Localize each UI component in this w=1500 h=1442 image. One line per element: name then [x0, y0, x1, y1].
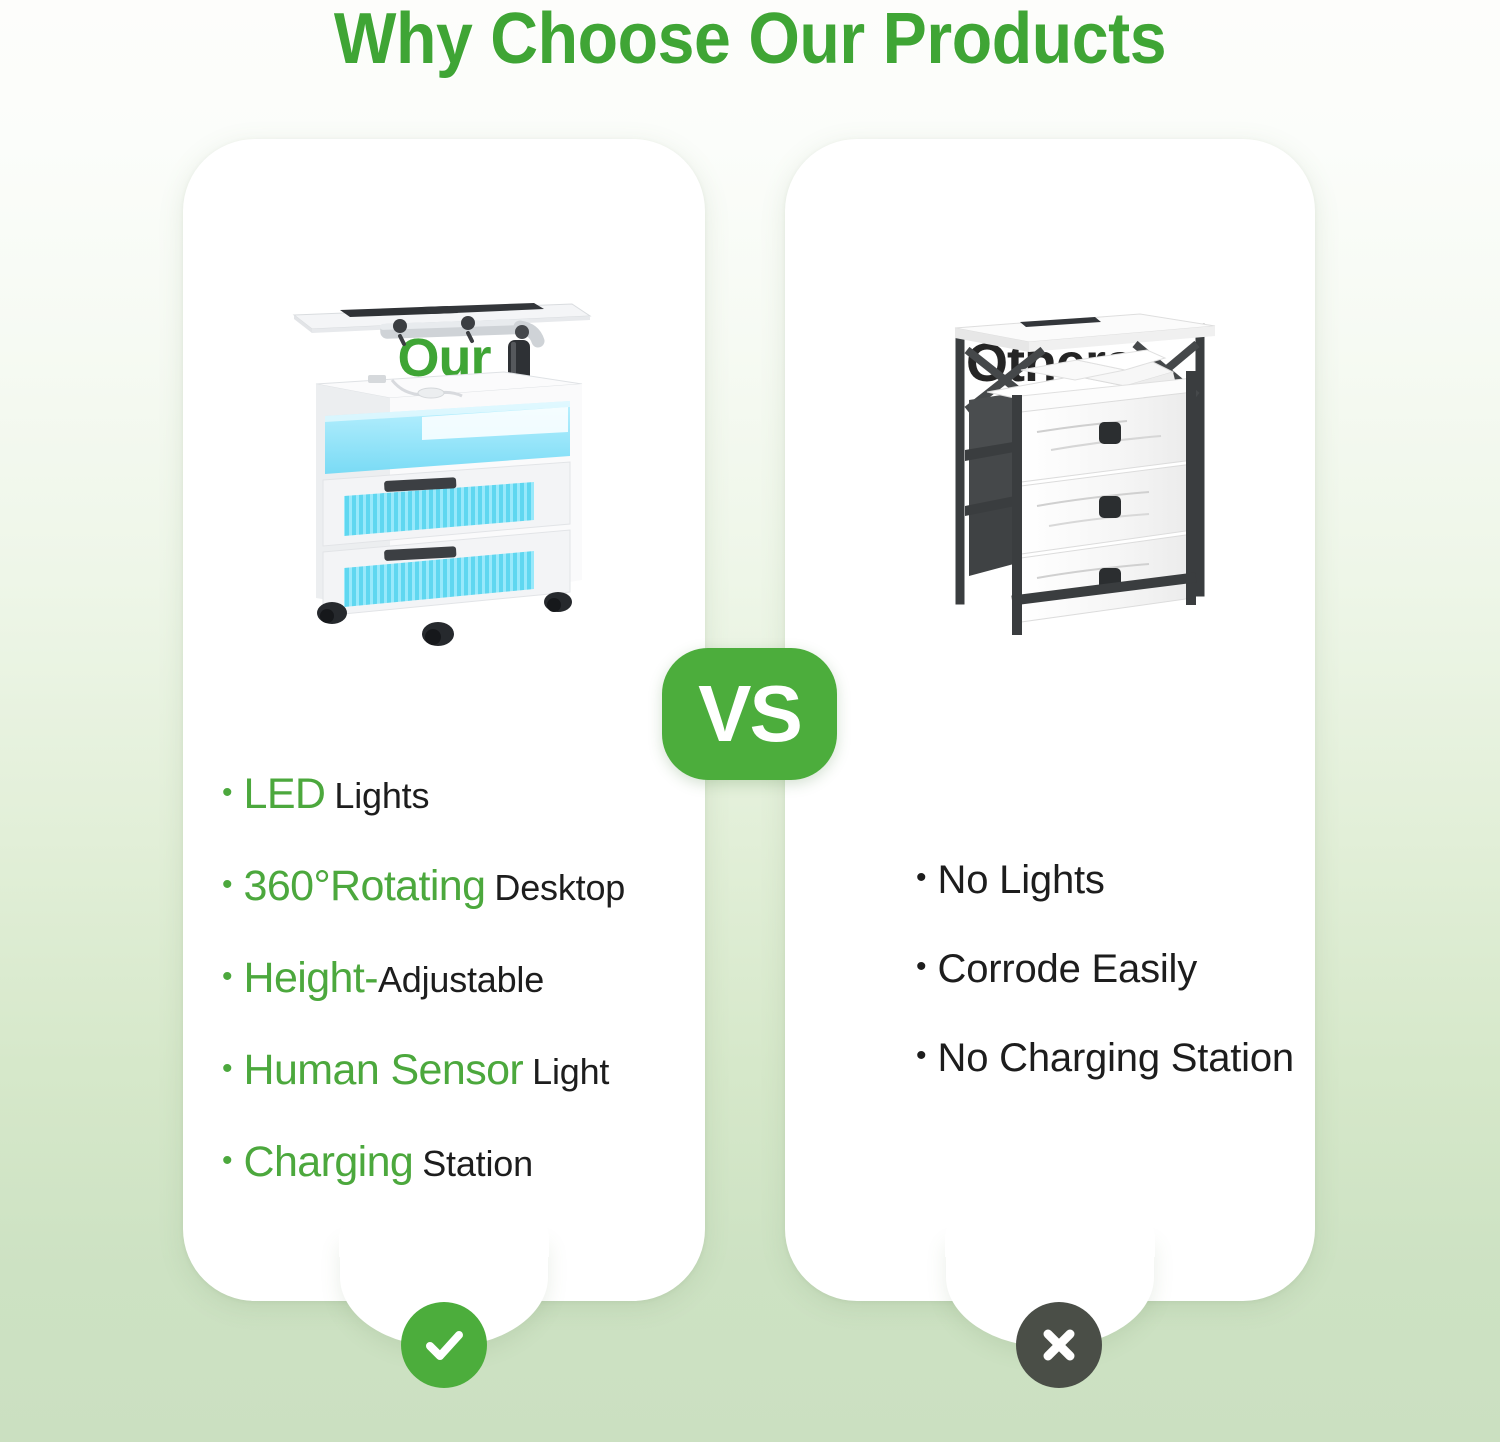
- bullet-icon: •: [222, 1146, 233, 1176]
- feature-highlight: 360°Rotating: [244, 862, 486, 911]
- check-icon: [418, 1319, 470, 1371]
- bullet-icon: •: [916, 952, 927, 982]
- list-item: • No Lights: [916, 858, 1316, 903]
- feature-highlight: Human Sensor: [244, 1046, 524, 1095]
- list-item: • Human Sensor Light: [222, 1046, 682, 1095]
- list-item: • No Charging Station: [916, 1036, 1316, 1081]
- feature-rest: No Charging Station: [938, 1036, 1294, 1081]
- feature-rest: Lights: [334, 775, 429, 817]
- page-title: Why Choose Our Products: [60, 0, 1440, 80]
- feature-rest: Adjustable: [378, 959, 544, 1001]
- comparison-infographic: Why Choose Our Products Our: [0, 0, 1500, 1442]
- feature-list-others: • No Lights • Corrode Easily • No Chargi…: [916, 858, 1316, 1125]
- feature-highlight: Charging: [244, 1138, 414, 1187]
- bullet-icon: •: [916, 863, 927, 893]
- product-image-our: [272, 280, 602, 660]
- vs-badge: VS: [662, 648, 837, 780]
- feature-rest: Corrode Easily: [938, 947, 1198, 992]
- bullet-icon: •: [222, 962, 233, 992]
- feature-rest: Station: [422, 1143, 533, 1185]
- cross-icon: [1035, 1321, 1083, 1369]
- bullet-icon: •: [916, 1041, 927, 1071]
- bullet-icon: •: [222, 1054, 233, 1084]
- feature-rest: Desktop: [494, 867, 625, 909]
- feature-list-our: • LED Lights • 360°Rotating Desktop • He…: [222, 770, 682, 1230]
- status-badge-cross: [1016, 1302, 1102, 1388]
- feature-highlight: Height-: [244, 954, 378, 1003]
- list-item: • LED Lights: [222, 770, 682, 819]
- product-image-others: [925, 300, 1240, 635]
- list-item: • Charging Station: [222, 1138, 682, 1187]
- bullet-icon: •: [222, 870, 233, 900]
- status-badge-check: [401, 1302, 487, 1388]
- feature-highlight: LED: [244, 770, 326, 819]
- list-item: • Corrode Easily: [916, 947, 1316, 992]
- vs-label: VS: [698, 668, 801, 760]
- feature-rest: Light: [532, 1051, 609, 1093]
- feature-rest: No Lights: [938, 858, 1105, 903]
- bullet-icon: •: [222, 778, 233, 808]
- list-item: • 360°Rotating Desktop: [222, 862, 682, 911]
- list-item: • Height- Adjustable: [222, 954, 682, 1003]
